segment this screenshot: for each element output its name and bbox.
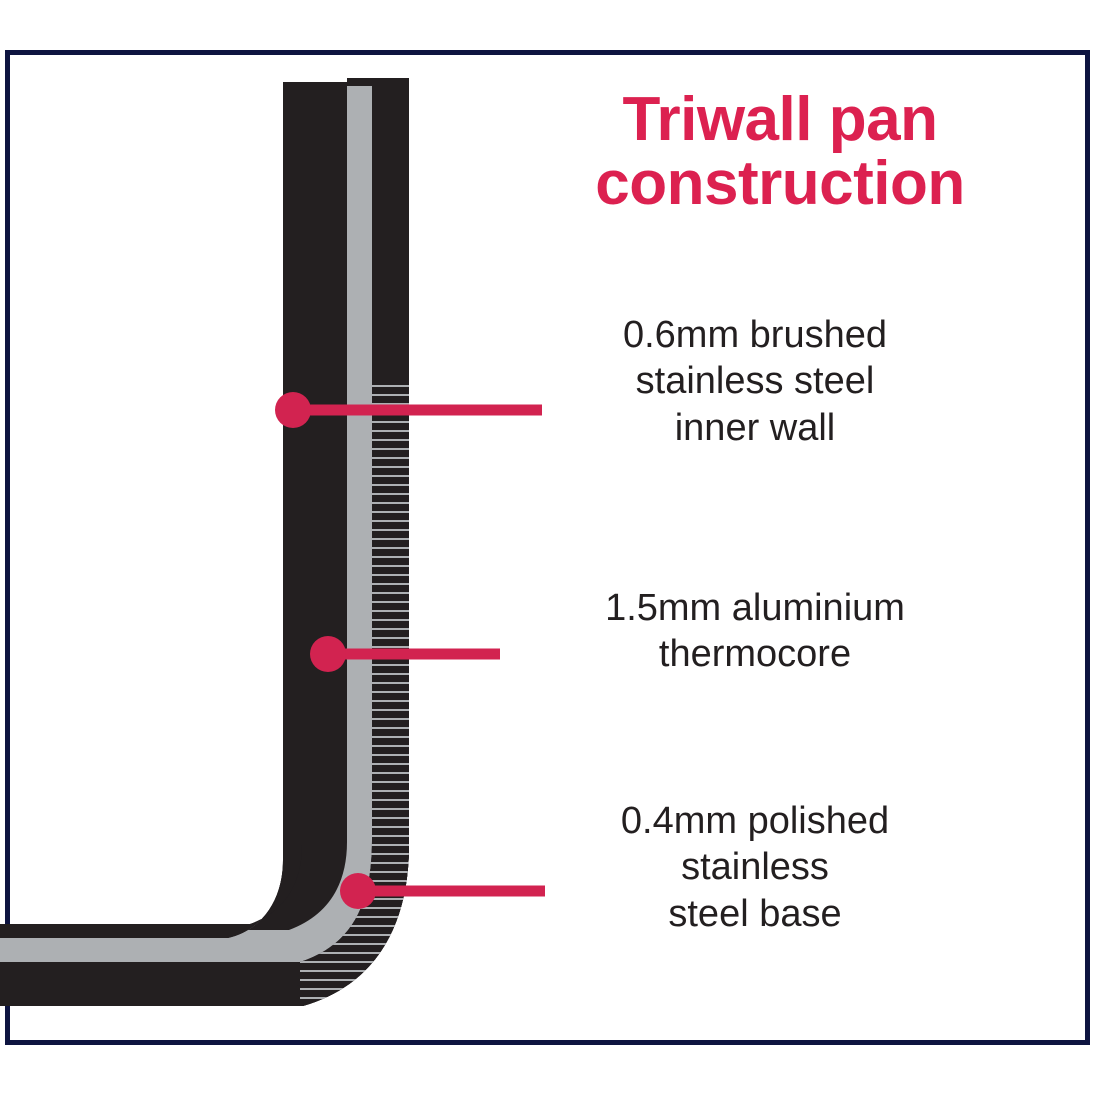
callout-inner-wall-line-1: 0.6mm brushed [520,312,990,358]
callout-inner-wall-line-3: inner wall [520,405,990,451]
callout-inner-wall-line-2: stainless steel [520,358,990,404]
page-title: Triwall pan construction [520,88,1040,217]
inner-skin-overlay [0,82,302,962]
callout-base-line-3: steel base [520,891,990,937]
callout-base-line-1: 0.4mm polished [520,798,990,844]
page-title-line-2: construction [520,152,1040,216]
callout-label-base: 0.4mm polished stainless steel base [520,798,990,937]
leader-dot-inner-wall [275,392,311,428]
leader-dot-base [340,873,376,909]
callout-thermocore-line-1: 1.5mm aluminium [505,585,1005,631]
page-title-line-1: Triwall pan [520,88,1040,152]
callout-label-thermocore: 1.5mm aluminium thermocore [505,585,1005,678]
inner-stainless-layer-shape [0,82,372,962]
diagram-canvas: Triwall pan construction 0.6mm brushed s… [0,0,1100,1100]
callout-thermocore-line-2: thermocore [505,631,1005,677]
callout-base-line-2: stainless [520,844,990,890]
callout-label-inner-wall: 0.6mm brushed stainless steel inner wall [520,312,990,451]
leader-dot-thermocore [310,636,346,672]
base-inner-skin [0,840,302,938]
